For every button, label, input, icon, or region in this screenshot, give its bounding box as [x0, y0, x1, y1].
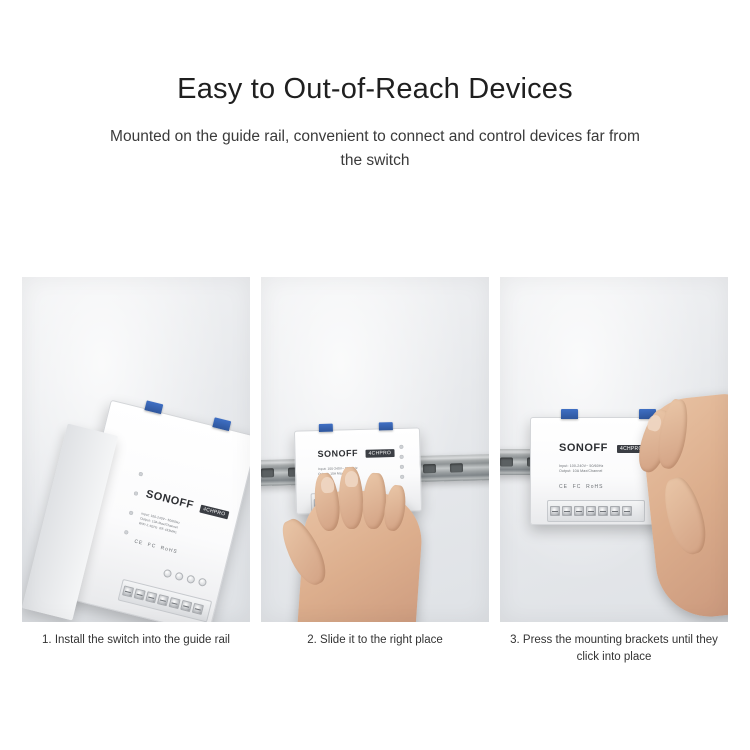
- rail-hole: [450, 463, 463, 472]
- status-led: [399, 445, 403, 449]
- header: Easy to Out-of-Reach Devices Mounted on …: [0, 0, 750, 173]
- fingernail: [345, 471, 358, 487]
- step-3-caption: 3. Press the mounting brackets until the…: [500, 632, 728, 665]
- channel-button: [186, 574, 196, 584]
- page-title: Easy to Out-of-Reach Devices: [0, 72, 750, 107]
- status-led: [400, 475, 404, 479]
- step-1-device-labels: Input: 100-240V~ 50/60Hz Output: 10A Max…: [138, 511, 180, 535]
- step-1-cert-marks: CE FC RoHS: [133, 539, 178, 557]
- terminal-screw: [134, 588, 146, 600]
- terminal-screw: [192, 603, 204, 615]
- step-3-device-brand: SONOFF: [559, 442, 608, 454]
- step-3-cert-marks: CE FC RoHS: [559, 484, 604, 492]
- terminal-screw: [622, 506, 632, 516]
- mounting-bracket-left-3: [561, 409, 578, 419]
- terminal-screw: [550, 506, 560, 516]
- terminal-screw: [180, 600, 192, 612]
- status-led: [400, 455, 404, 459]
- page-subtitle: Mounted on the guide rail, convenient to…: [105, 125, 645, 173]
- terminal-block-3: [547, 500, 645, 522]
- channel-button: [163, 569, 173, 579]
- terminal-screw: [145, 591, 157, 603]
- step-3-photo: SONOFF 4CHPRO Input: 100-240V~ 50/60Hz O…: [500, 277, 728, 622]
- channel-button: [174, 572, 184, 582]
- step-1-device-model: 4CHPRO: [199, 505, 229, 520]
- terminal-screw: [122, 585, 134, 597]
- status-led: [400, 465, 404, 469]
- rail-hole: [500, 458, 513, 467]
- step-2-device-brand: SONOFF: [317, 448, 358, 459]
- mounting-bracket-right-2: [379, 422, 393, 430]
- step-3-device-labels: Input: 100-240V~ 50/60Hz Output: 10A Max…: [559, 464, 603, 475]
- step-2-photo: SONOFF 4CHPRO Input: 100-240V~ 50/60Hz O…: [261, 277, 489, 622]
- step-panel-3: SONOFF 4CHPRO Input: 100-240V~ 50/60Hz O…: [500, 277, 728, 665]
- terminal-screw: [598, 506, 608, 516]
- terminal-screw: [610, 506, 620, 516]
- product-infographic-page: Easy to Out-of-Reach Devices Mounted on …: [0, 0, 750, 750]
- step-1-caption: 1. Install the switch into the guide rai…: [22, 632, 250, 649]
- status-led: [138, 472, 143, 477]
- step-1-photo: SONOFF 4CHPRO Input: 100-240V~ 50/60Hz O…: [22, 277, 250, 622]
- rail-hole: [261, 468, 274, 477]
- status-led: [134, 491, 139, 496]
- terminal-screw: [169, 597, 181, 609]
- step-panel-1: SONOFF 4CHPRO Input: 100-240V~ 50/60Hz O…: [22, 277, 250, 665]
- step-2-caption: 2. Slide it to the right place: [261, 632, 489, 649]
- rail-hole: [423, 464, 436, 473]
- step-1-device-brand: SONOFF: [145, 488, 195, 511]
- terminal-screw: [574, 506, 584, 516]
- steps-row: SONOFF 4CHPRO Input: 100-240V~ 50/60Hz O…: [22, 277, 728, 665]
- status-led: [129, 510, 134, 515]
- status-led: [124, 530, 129, 535]
- terminal-screw: [586, 506, 596, 516]
- channel-button: [198, 577, 208, 587]
- mounting-bracket-left-2: [319, 424, 333, 432]
- terminal-screw: [157, 594, 169, 606]
- step-2-device-model: 4CHPRO: [365, 449, 394, 458]
- step-panel-2: SONOFF 4CHPRO Input: 100-240V~ 50/60Hz O…: [261, 277, 489, 665]
- terminal-screw: [562, 506, 572, 516]
